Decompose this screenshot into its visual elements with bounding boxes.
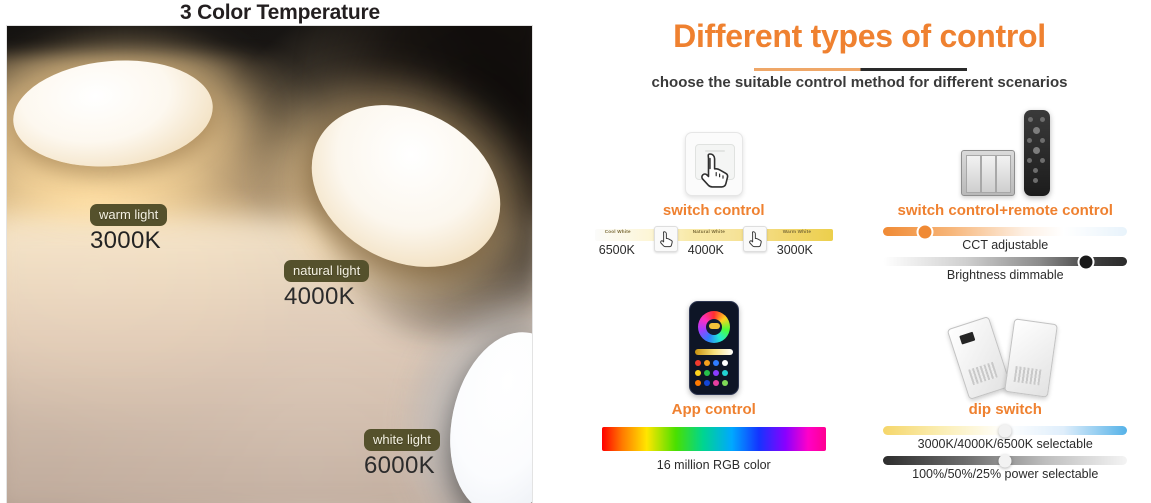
lamp-white [434,321,533,503]
control-types-panel: Different types of control choose the su… [568,0,1151,502]
control-types-subtitle: choose the suitable control method for d… [568,74,1151,91]
control-cell-dip-switch: dip switch 3000K/4000K/6500K selectable … [860,303,1151,502]
dip-power-slider-knob[interactable] [999,454,1012,467]
color-wheel [698,311,730,343]
led-driver-back [1004,318,1058,397]
rocker [996,155,1011,193]
brightness-slider[interactable] [883,257,1127,266]
dip-cct-caption: 3000K/4000K/6500K selectable [883,437,1127,451]
cct-kelvin-value: 6000K [364,452,440,480]
cct-badge-label: natural light [284,260,369,282]
wall-switch-press-icon [568,104,860,196]
step-kelvin-warm: 3000K [777,243,813,257]
control-methods-grid: switch control Cool White Natural White … [568,104,1151,502]
rocker [966,155,981,193]
pressing-hand-icon [699,150,733,190]
cell-title: switch control [663,202,765,219]
cct-badge-label: white light [364,429,440,451]
dip-switch-sliders: 3000K/4000K/6500K selectable 100%/50%/25… [883,426,1127,481]
dip-cct-slider-knob[interactable] [999,424,1012,437]
phone-body [689,301,739,395]
cct-slider-knob[interactable] [916,223,933,240]
control-types-title: Different types of control [568,18,1151,55]
brightness-slider-knob[interactable] [1077,253,1094,270]
cell-title: switch control+remote control [898,202,1113,219]
title-divider [754,68,967,71]
step-name-natural: Natural White [693,229,725,234]
step-kelvin-cool: 6500K [599,243,635,257]
color-temperature-panel: 3 Color Temperature warm light 3000K [0,0,568,502]
dip-cct-slider[interactable] [883,426,1127,435]
driver-fins [1014,366,1042,385]
switch-and-remote-icon [860,104,1151,196]
brightness-slider-caption: Brightness dimmable [883,268,1127,282]
step-name-warm: Warm White [783,229,811,234]
control-cell-app: App control 16 million RGB color [568,303,860,502]
cct-kelvin-value: 4000K [284,283,369,311]
switch-plate [685,132,743,196]
page-title: 3 Color Temperature [0,1,560,25]
cct-slider-caption: CCT adjustable [883,238,1127,252]
cct-badge-label: warm light [90,204,167,226]
cct-callout-white: white light 6000K [364,429,440,480]
control-cell-switch-remote: switch control+remote control CCT adjust… [860,104,1151,303]
cct-callout-natural: natural light 4000K [284,260,369,311]
dip-power-caption: 100%/50%/25% power selectable [883,467,1127,481]
cell-title: App control [672,401,756,418]
cct-brightness-sliders: CCT adjustable Brightness dimmable [883,227,1127,282]
cell-title: dip switch [969,401,1042,418]
rgb-caption: 16 million RGB color [602,458,826,472]
cct-step-bar: Cool White Natural White Warm White [595,229,833,261]
rgb-spectrum-bar [602,427,826,451]
led-driver-front [947,316,1012,400]
ceiling-lamp-photo: warm light 3000K natural light 4000K whi… [6,25,533,503]
rocker [981,155,996,193]
dip-switch-block [959,332,975,345]
product-infographic: 3 Color Temperature warm light 3000K [0,0,1151,502]
cct-slider[interactable] [883,227,1127,236]
driver-fins [968,362,998,385]
smartphone-rgb-app-icon [568,303,860,395]
dip-switch-driver-icon [860,303,1151,395]
remote-control-icon [1024,110,1050,196]
cct-kelvin-value: 3000K [90,227,167,255]
control-cell-switch: switch control Cool White Natural White … [568,104,860,303]
cct-callout-warm: warm light 3000K [90,204,167,255]
step-kelvin-natural: 4000K [688,243,724,257]
step-name-cool: Cool White [605,229,631,234]
app-brightness-slider [695,349,733,355]
wall-switch-3gang-icon [961,150,1015,196]
lamp-warm [9,52,217,174]
dip-power-slider[interactable] [883,456,1127,465]
